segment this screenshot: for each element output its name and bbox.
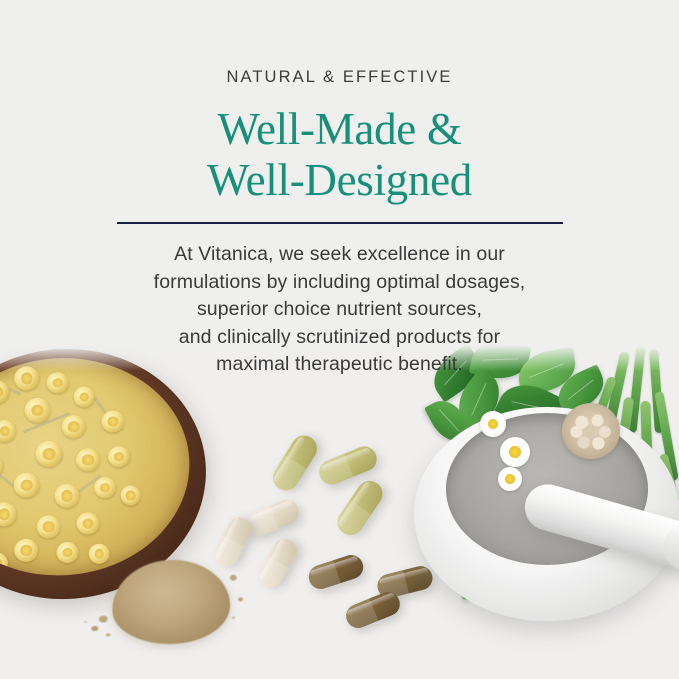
capsule-cream-3	[255, 534, 302, 591]
page-title: Well-Made & Well-Designed	[0, 104, 679, 206]
capsule-brown-1	[306, 552, 367, 592]
body-line-5: maximal therapeutic benefit.	[0, 351, 679, 379]
product-photo	[0, 345, 679, 679]
dried-umbel-flower	[562, 403, 620, 459]
mortar-and-pestle	[414, 385, 679, 623]
text-block: NATURAL & EFFECTIVE Well-Made & Well-Des…	[0, 0, 679, 379]
body-line-3: superior choice nutrient sources,	[0, 296, 679, 324]
daisy-flower	[498, 467, 522, 491]
divider-rule	[117, 222, 563, 224]
daisy-flower	[480, 411, 506, 437]
body-line-2: formulations by including optimal dosage…	[0, 269, 679, 297]
eyebrow-text: NATURAL & EFFECTIVE	[0, 68, 679, 86]
divider-wrap	[0, 222, 679, 225]
headline-line-1: Well-Made &	[217, 104, 461, 154]
capsule-olive-1	[268, 431, 322, 496]
body-line-1: At Vitanica, we seek excellence in our	[0, 241, 679, 269]
body-line-4: and clinically scrutinized products for	[0, 324, 679, 352]
daisy-flower	[500, 437, 530, 467]
chamomile-bowl-contents	[0, 350, 197, 584]
capsule-brown-3	[343, 588, 404, 631]
capsule-cream-2	[210, 513, 256, 570]
headline-line-2: Well-Designed	[0, 155, 679, 206]
capsule-olive-3	[332, 476, 387, 540]
body-paragraph: At Vitanica, we seek excellence in our f…	[0, 241, 679, 379]
capsule-cream-1	[243, 496, 302, 539]
promo-banner: NATURAL & EFFECTIVE Well-Made & Well-Des…	[0, 0, 679, 679]
